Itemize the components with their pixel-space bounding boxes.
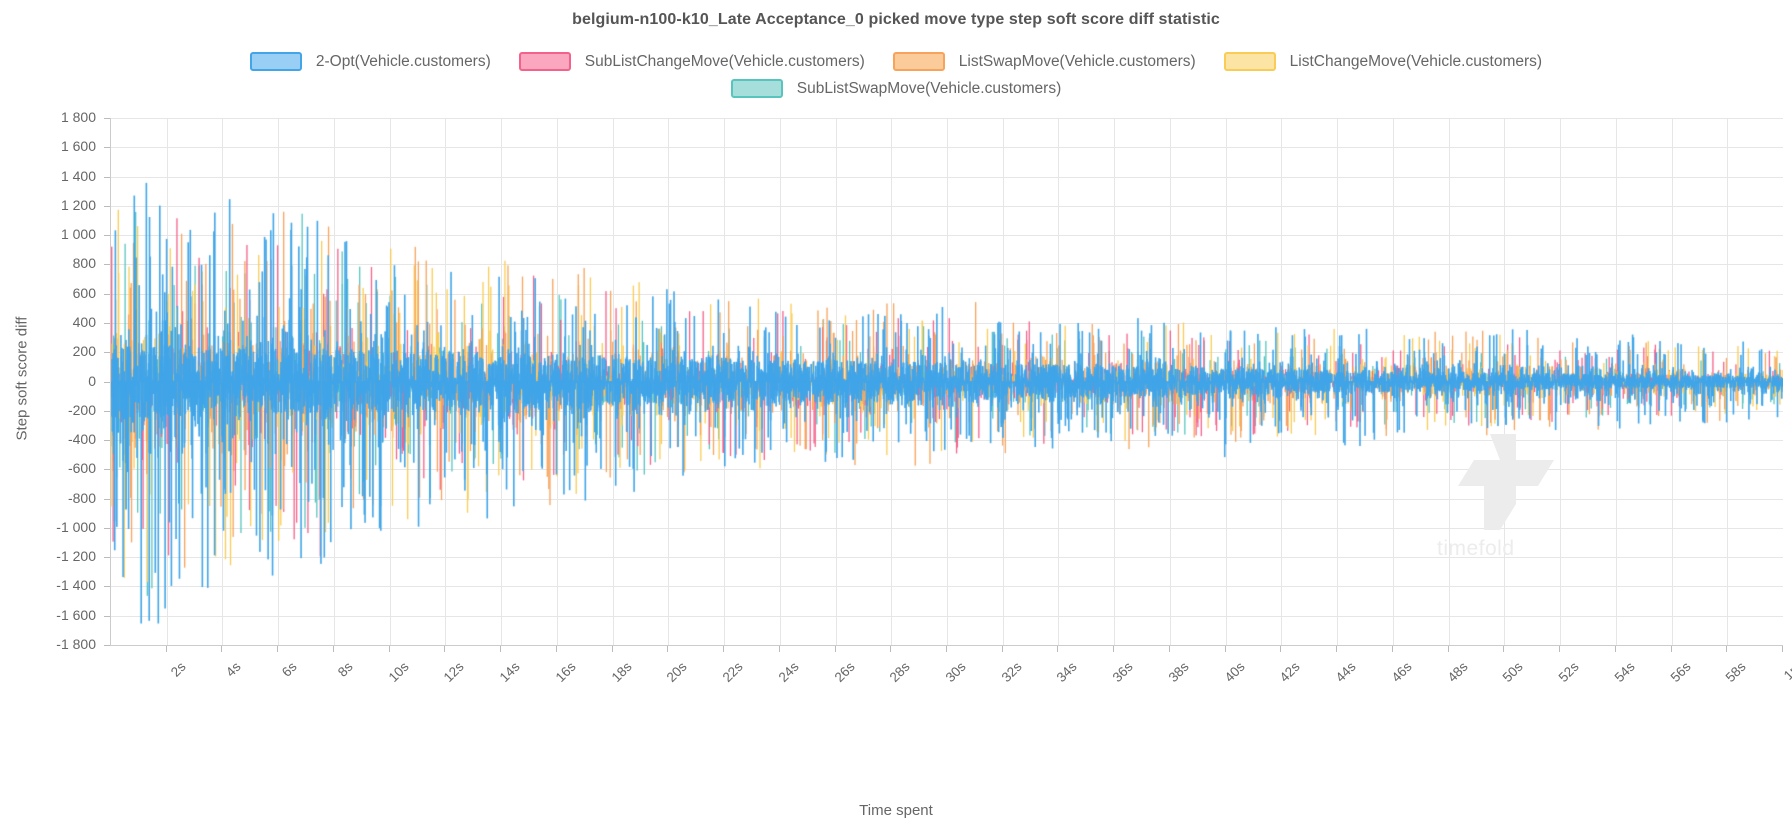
x-tick-mark [723,646,724,652]
x-tick-mark [1671,646,1672,652]
y-tick-mark [104,118,110,119]
x-tick-mark [779,646,780,652]
x-tick-mark [1782,646,1783,652]
y-tick-mark [104,411,110,412]
x-tick-mark [1336,646,1337,652]
x-tick-mark [389,646,390,652]
y-tick-mark [104,440,110,441]
x-tick-mark [1615,646,1616,652]
legend-swatch-2-opt [250,52,302,71]
chart-legend: 2-Opt(Vehicle.customers) SubListChangeMo… [0,52,1792,98]
legend-row-2: SubListSwapMove(Vehicle.customers) [0,79,1792,98]
y-tick-label: 800 [0,255,96,271]
legend-label-sublistswapmove: SubListSwapMove(Vehicle.customers) [797,80,1061,98]
y-tick-label: -1 600 [0,607,96,623]
x-tick-mark [1503,646,1504,652]
y-tick-mark [104,528,110,529]
x-tick-mark [333,646,334,652]
x-tick-mark [612,646,613,652]
legend-item-listswapmove[interactable]: ListSwapMove(Vehicle.customers) [893,52,1196,71]
y-tick-label: -1 800 [0,636,96,652]
x-tick-mark [1280,646,1281,652]
y-tick-label: -800 [0,490,96,506]
y-tick-mark [104,616,110,617]
x-axis-title: Time spent [0,802,1792,819]
legend-item-sublistchangemove[interactable]: SubListChangeMove(Vehicle.customers) [519,52,865,71]
y-axis-title: Step soft score diff [14,279,31,479]
plot-frame [110,118,1783,646]
legend-swatch-listswapmove [893,52,945,71]
x-tick-mark [1448,646,1449,652]
x-tick-mark [1392,646,1393,652]
timefold-watermark-label: timefold [1437,537,1515,561]
y-tick-label: -1 400 [0,577,96,593]
y-tick-mark [104,206,110,207]
legend-label-sublistchangemove: SubListChangeMove(Vehicle.customers) [585,53,865,71]
y-tick-label: 1 000 [0,226,96,242]
y-tick-mark [104,645,110,646]
x-tick-mark [277,646,278,652]
legend-swatch-sublistchangemove [519,52,571,71]
plot-area [111,118,1783,645]
y-tick-label: -1 000 [0,519,96,535]
x-tick-mark [221,646,222,652]
y-tick-mark [104,382,110,383]
x-tick-mark [835,646,836,652]
y-tick-mark [104,352,110,353]
x-tick-mark [500,646,501,652]
legend-item-2-opt[interactable]: 2-Opt(Vehicle.customers) [250,52,491,71]
y-tick-label: -1 200 [0,548,96,564]
x-tick-mark [1726,646,1727,652]
x-tick-mark [1225,646,1226,652]
legend-label-listswapmove: ListSwapMove(Vehicle.customers) [959,53,1196,71]
y-tick-mark [104,177,110,178]
x-tick-mark [667,646,668,652]
y-tick-mark [104,469,110,470]
y-tick-mark [104,264,110,265]
x-tick-mark [1169,646,1170,652]
legend-item-sublistswapmove[interactable]: SubListSwapMove(Vehicle.customers) [731,79,1061,98]
x-tick-mark [1002,646,1003,652]
x-tick-mark [444,646,445,652]
y-tick-mark [104,499,110,500]
x-tick-mark [556,646,557,652]
y-tick-label: 1 800 [0,109,96,125]
y-tick-label: 1 600 [0,138,96,154]
chart-title: belgium-n100-k10_Late Acceptance_0 picke… [0,11,1792,29]
x-tick-mark [946,646,947,652]
y-tick-mark [104,323,110,324]
y-tick-mark [104,586,110,587]
y-tick-mark [104,235,110,236]
series-canvas [111,118,1783,645]
x-tick-mark [1559,646,1560,652]
x-tick-mark [1057,646,1058,652]
x-tick-mark [166,646,167,652]
legend-swatch-sublistswapmove [731,79,783,98]
y-tick-mark [104,147,110,148]
y-tick-label: 1 400 [0,168,96,184]
legend-swatch-listchangemove [1224,52,1276,71]
x-tick-mark [890,646,891,652]
y-tick-label: 1 200 [0,197,96,213]
y-tick-mark [104,294,110,295]
legend-row-1: 2-Opt(Vehicle.customers) SubListChangeMo… [0,52,1792,71]
legend-item-listchangemove[interactable]: ListChangeMove(Vehicle.customers) [1224,52,1542,71]
x-tick-mark [1113,646,1114,652]
y-tick-mark [104,557,110,558]
legend-label-listchangemove: ListChangeMove(Vehicle.customers) [1290,53,1542,71]
legend-label-2-opt: 2-Opt(Vehicle.customers) [316,53,491,71]
